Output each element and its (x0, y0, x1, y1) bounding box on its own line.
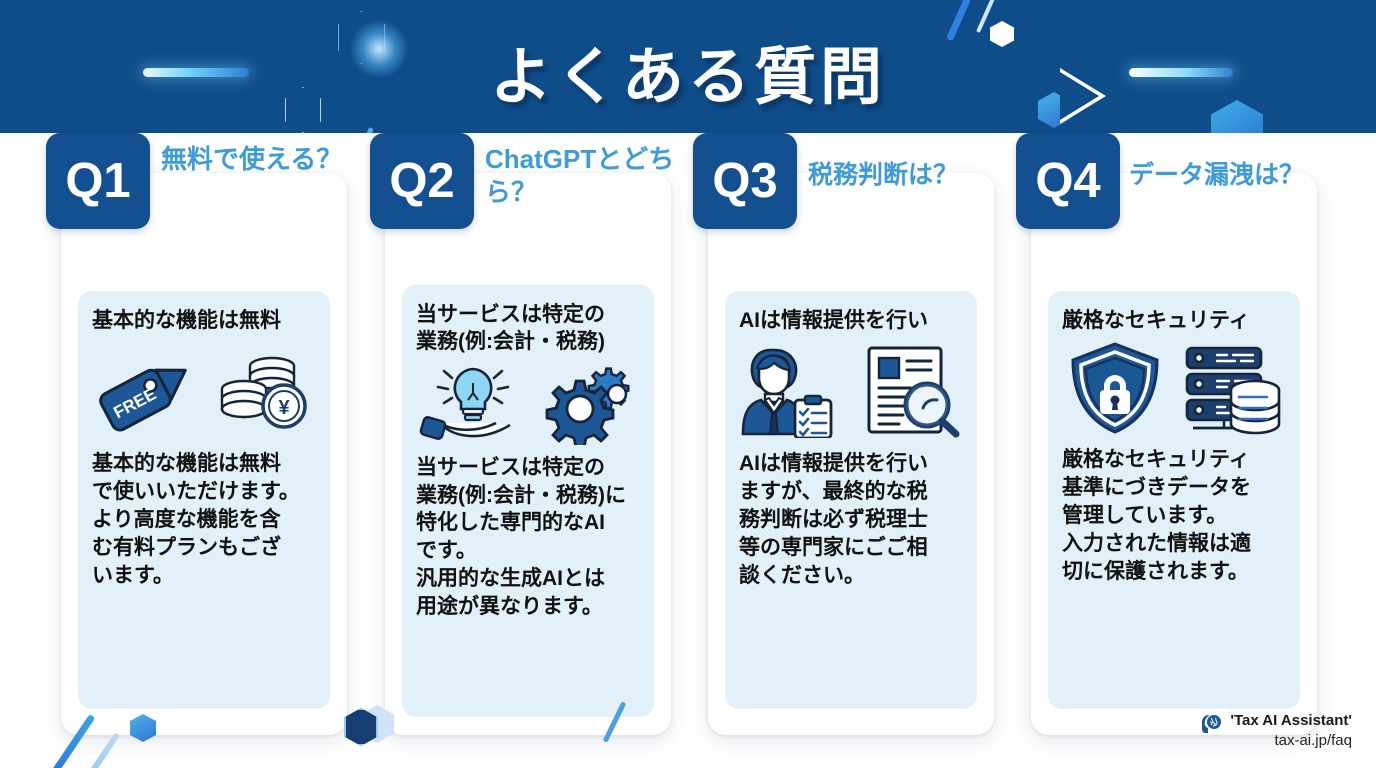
faq-card[interactable]: Q2 ChatGPTとどちら？ 当サービスは特定の 業務(例:会計・税務) (385, 173, 671, 735)
answer-text: 厳格なセキュリティ 基準にづきデータを 管理しています。 入力された情報は適 切… (1062, 446, 1286, 586)
answer-icon-row (1062, 338, 1286, 438)
answer-text: AIは情報提供を行い ますが、最終的な税 務判断は必ず税理士 等の専門家にごご相… (739, 450, 963, 590)
gears-icon (538, 361, 638, 445)
answer-icon-row (739, 338, 963, 442)
question-badge: Q1 (46, 133, 150, 229)
server-database-icon (1177, 340, 1283, 436)
footer-url: tax-ai.jp/faq (1230, 731, 1352, 751)
answer-text: 当サービスは特定の 業務(例:会計・税務)に 特化した専門的なAI です。 汎用… (416, 454, 640, 622)
free-tag-icon: FREE (94, 344, 198, 436)
answer-heading: 基本的な機能は無料 (92, 307, 316, 334)
svg-text:¥: ¥ (278, 397, 290, 419)
question-title: 税務判断は？ (808, 159, 1008, 191)
answer-heading: 厳格なセキュリティ (1062, 307, 1286, 334)
faq-card[interactable]: Q3 税務判断は？ AIは情報提供を行い (708, 173, 994, 735)
answer-heading: AIは情報提供を行い (739, 307, 963, 334)
answer-box: AIは情報提供を行い (725, 291, 977, 709)
faq-infographic: よくある質問 Q1 無料で使える？ 基本的な機能は無料 FREE (0, 0, 1376, 768)
footer-brand-name: 'Tax AI Assistant' (1230, 712, 1352, 731)
document-magnifier-icon (859, 342, 963, 438)
shield-lock-icon (1065, 340, 1165, 436)
question-title: 無料で使える？ (161, 143, 361, 176)
question-title: データ漏洩は？ (1129, 159, 1359, 191)
question-badge: Q2 (370, 133, 474, 229)
page-header: よくある質問 (0, 0, 1376, 133)
footer-brand-block: 'Tax AI Assistant' tax-ai.jp/faq (1201, 712, 1352, 750)
faq-card[interactable]: Q4 データ漏洩は？ 厳格なセキュリティ (1031, 173, 1317, 735)
answer-box: 当サービスは特定の 業務(例:会計・税務) (402, 285, 654, 717)
advisor-person-icon (739, 342, 847, 438)
answer-icon-row: FREE (92, 338, 316, 442)
faq-card[interactable]: Q1 無料で使える？ 基本的な機能は無料 FREE (61, 173, 347, 735)
lightbulb-hand-icon (418, 361, 526, 445)
coin-stack-yen-icon: ¥ (210, 344, 314, 436)
answer-icon-row (416, 360, 640, 446)
footer-text-block: 'Tax AI Assistant' tax-ai.jp/faq (1230, 712, 1352, 750)
answer-box: 基本的な機能は無料 FREE (78, 291, 330, 709)
faq-card-list: Q1 無料で使える？ 基本的な機能は無料 FREE (0, 133, 1376, 768)
question-title: ChatGPTとどちら？ (485, 143, 685, 210)
answer-heading: 当サービスは特定の 業務(例:会計・税務) (416, 301, 640, 356)
answer-box: 厳格なセキュリティ (1048, 291, 1300, 709)
brain-head-icon (1201, 713, 1223, 735)
question-badge: Q4 (1016, 133, 1120, 229)
page-title: よくある質問 (0, 26, 1376, 116)
answer-text: 基本的な機能は無料 で使いいただけます。 より高度な機能を含 む有料プランもござ… (92, 450, 316, 590)
question-badge: Q3 (693, 133, 797, 229)
